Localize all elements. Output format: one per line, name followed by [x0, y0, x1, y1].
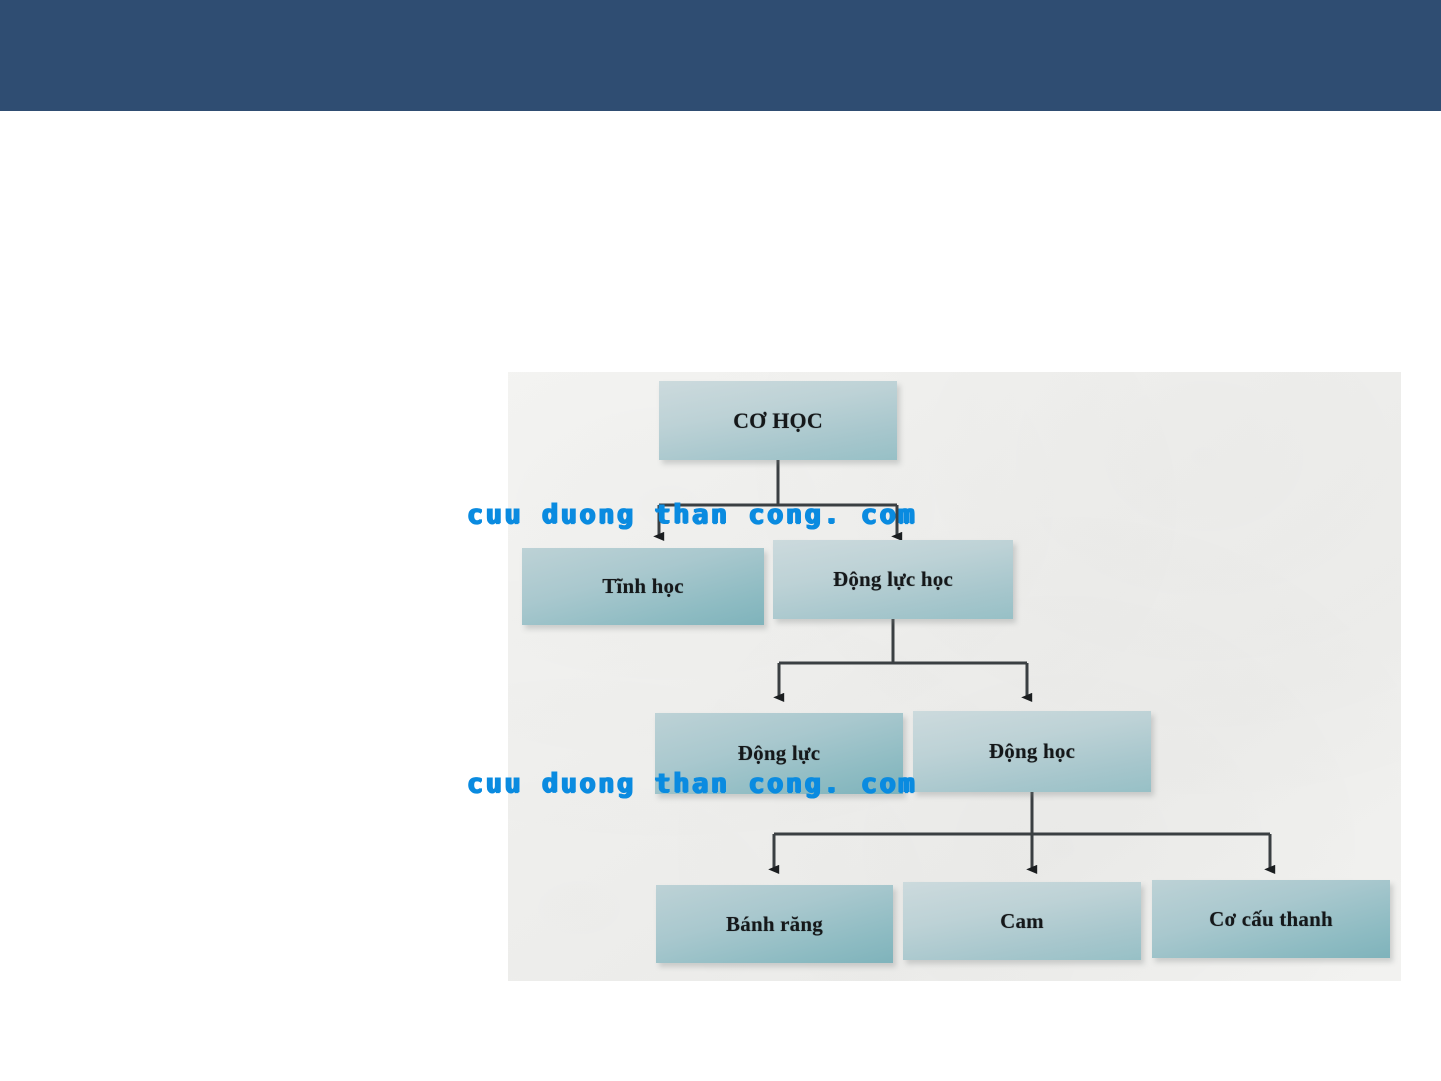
- slide-canvas: CƠ HỌC Tĩnh học Động lực học Động lực Độ…: [0, 0, 1441, 1081]
- node-co-hoc: CƠ HỌC: [659, 381, 897, 460]
- node-tinh-hoc: Tĩnh học: [522, 548, 764, 625]
- mechanics-hierarchy-figure: CƠ HỌC Tĩnh học Động lực học Động lực Độ…: [508, 372, 1401, 981]
- node-co-cau-thanh: Cơ cấu thanh: [1152, 880, 1390, 958]
- node-cam: Cam: [903, 882, 1141, 960]
- node-dong-hoc: Động học: [913, 711, 1151, 792]
- slide-header-band: [0, 0, 1441, 111]
- node-banh-rang: Bánh răng: [656, 885, 893, 963]
- watermark-text-top: cuu duong than cong. com: [467, 499, 917, 530]
- node-dong-luc-hoc: Động lực học: [773, 540, 1013, 619]
- watermark-text-bottom: cuu duong than cong. com: [467, 768, 917, 799]
